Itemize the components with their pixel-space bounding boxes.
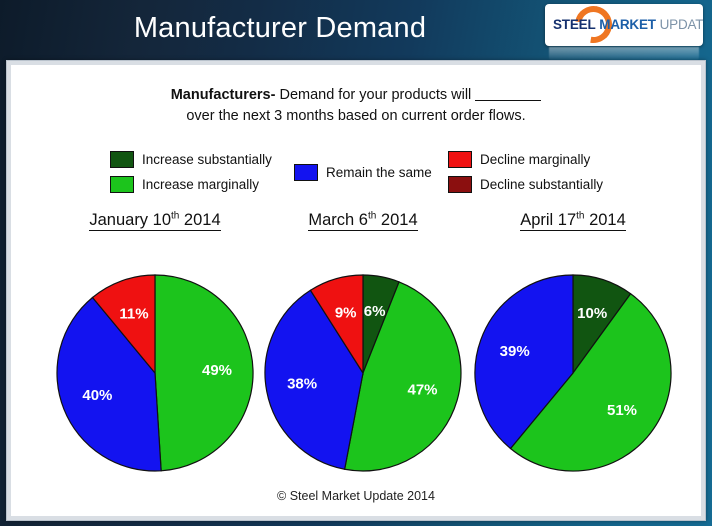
pie-slice-label: 51% bbox=[607, 402, 637, 419]
pie-chart-april: 10%51%39% bbox=[471, 271, 675, 475]
legend-label-increase-substantially: Increase substantially bbox=[142, 152, 272, 167]
question-lead: Manufacturers- bbox=[171, 87, 276, 103]
logo-reflection bbox=[549, 47, 699, 61]
chart-date-1-monthday: January 10 bbox=[89, 211, 171, 229]
copyright-notice: © Steel Market Update 2014 bbox=[11, 489, 701, 503]
pie-slice-label: 9% bbox=[335, 304, 357, 321]
pie-chart-april-svg: 10%51%39% bbox=[471, 271, 675, 475]
legend-label-remain-the-same: Remain the same bbox=[326, 165, 432, 180]
legend-swatch-remain-the-same bbox=[294, 164, 318, 181]
chart-date-3-year: 2014 bbox=[585, 211, 626, 229]
question-text-2: over the next 3 months based on current … bbox=[186, 108, 525, 124]
legend-swatch-increase-substantially bbox=[110, 151, 134, 168]
chart-date-3-suffix: th bbox=[576, 210, 584, 221]
chart-date-heading-3: April 17th 2014 bbox=[453, 210, 693, 230]
chart-date-1-year: 2014 bbox=[179, 211, 220, 229]
pie-chart-march: 6%47%38%9% bbox=[261, 271, 465, 475]
legend-label-decline-substantially: Decline substantially bbox=[480, 177, 603, 192]
page-title: Manufacturer Demand bbox=[0, 12, 560, 45]
legend-label-increase-marginally: Increase marginally bbox=[142, 177, 259, 192]
legend-swatch-decline-marginally bbox=[448, 151, 472, 168]
slide-body-frame: Manufacturers- Demand for your products … bbox=[6, 60, 706, 521]
logo-word-update: UPDATE bbox=[660, 17, 703, 32]
pie-chart-january: 49%40%11% bbox=[53, 271, 257, 475]
slide-header: Manufacturer Demand STEEL MARKET UPDATE bbox=[0, 0, 712, 60]
pie-slice-label: 39% bbox=[500, 343, 530, 360]
chart-date-2-monthday: March 6 bbox=[308, 211, 368, 229]
chart-date-2-year: 2014 bbox=[376, 211, 417, 229]
pie-slice-label: 49% bbox=[202, 362, 232, 379]
chart-date-3-monthday: April 17 bbox=[520, 211, 576, 229]
legend-item-decline-marginally: Decline marginally bbox=[448, 147, 603, 172]
pie-slice-label: 11% bbox=[119, 306, 148, 323]
legend: Increase substantially Increase marginal… bbox=[11, 147, 701, 199]
legend-item-decline-substantially: Decline substantially bbox=[448, 172, 603, 197]
brand-logo: STEEL MARKET UPDATE bbox=[545, 4, 703, 46]
logo-wordmark: STEEL MARKET UPDATE bbox=[553, 17, 701, 32]
logo-card: STEEL MARKET UPDATE bbox=[545, 4, 703, 46]
pie-slice-label: 10% bbox=[577, 305, 607, 322]
legend-swatch-decline-substantially bbox=[448, 176, 472, 193]
pie-chart-march-svg: 6%47%38%9% bbox=[261, 271, 465, 475]
legend-column-increase: Increase substantially Increase marginal… bbox=[110, 147, 272, 197]
chart-date-heading-1: January 10th 2014 bbox=[35, 210, 275, 230]
pie-slice-label: 40% bbox=[82, 387, 112, 404]
pie-slice-label: 47% bbox=[407, 381, 437, 398]
logo-word-market: MARKET bbox=[599, 17, 656, 32]
chart-date-heading-2: March 6th 2014 bbox=[243, 210, 483, 230]
question-blank bbox=[475, 100, 541, 101]
legend-item-increase-marginally: Increase marginally bbox=[110, 172, 272, 197]
legend-item-increase-substantially: Increase substantially bbox=[110, 147, 272, 172]
legend-column-remain: Remain the same bbox=[294, 160, 432, 185]
pie-chart-january-svg: 49%40%11% bbox=[53, 271, 257, 475]
legend-column-decline: Decline marginally Decline substantially bbox=[448, 147, 603, 197]
pie-slice-label: 6% bbox=[364, 303, 386, 320]
slide-canvas: Manufacturer Demand STEEL MARKET UPDATE … bbox=[0, 0, 712, 526]
logo-word-steel: STEEL bbox=[553, 17, 596, 32]
pie-slice-label: 38% bbox=[287, 376, 317, 393]
legend-swatch-increase-marginally bbox=[110, 176, 134, 193]
legend-label-decline-marginally: Decline marginally bbox=[480, 152, 590, 167]
slide-body: Manufacturers- Demand for your products … bbox=[11, 65, 701, 516]
legend-item-remain-the-same: Remain the same bbox=[294, 160, 432, 185]
survey-question: Manufacturers- Demand for your products … bbox=[11, 85, 701, 127]
question-text-1: Demand for your products will bbox=[275, 87, 475, 103]
